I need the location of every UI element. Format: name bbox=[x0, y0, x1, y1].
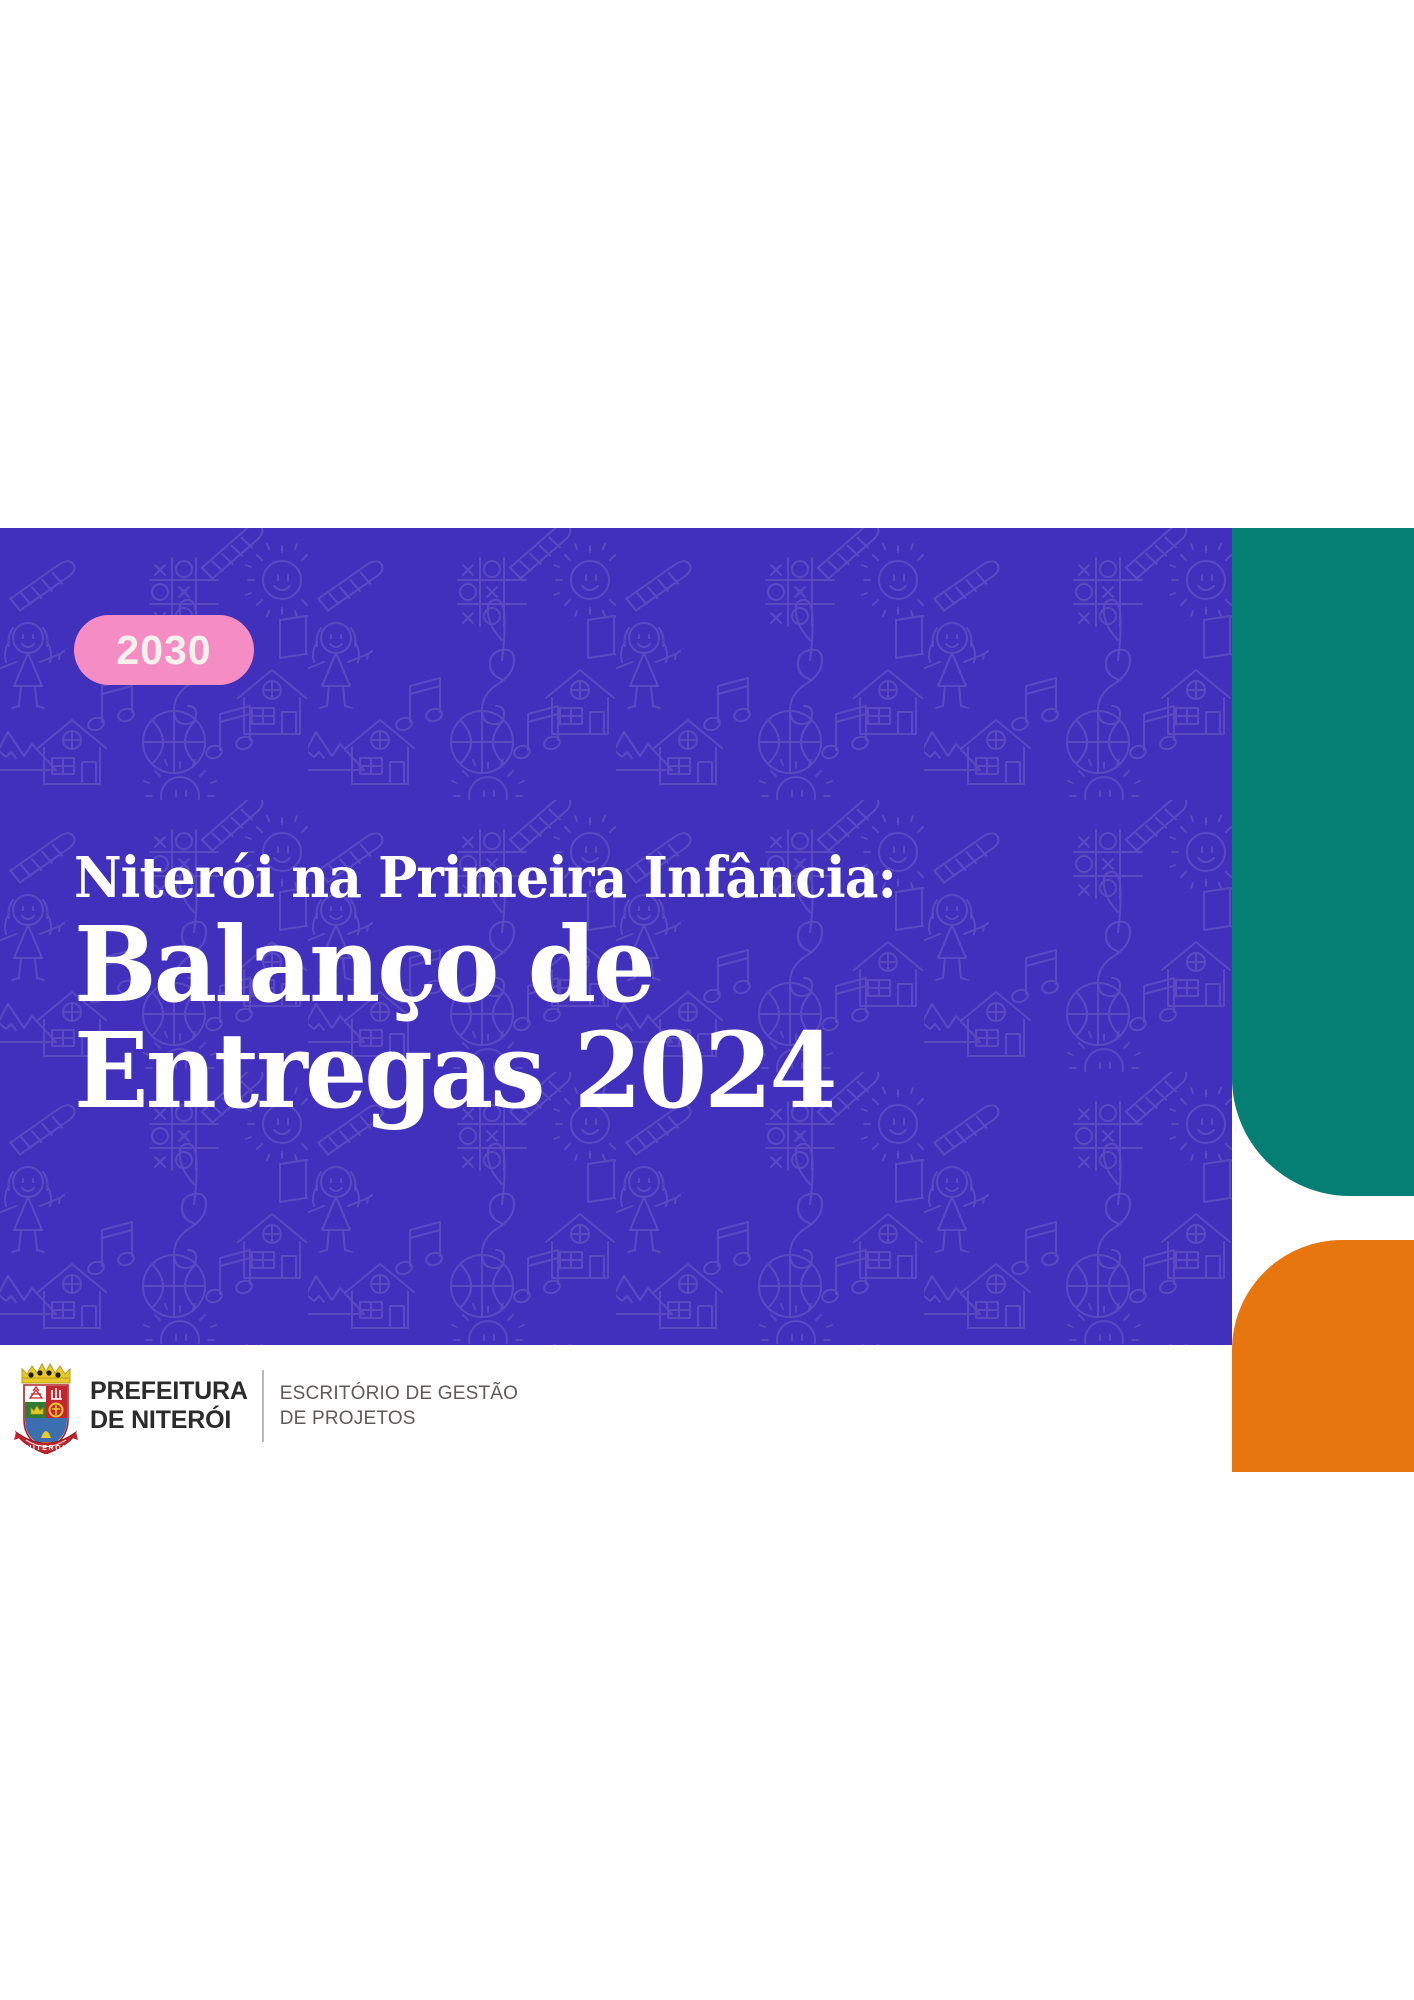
niteroi-coat-of-arms-icon: NITEROI bbox=[14, 1358, 78, 1454]
prefeitura-line-2: DE NITERÓI bbox=[90, 1406, 248, 1436]
orange-accent-block bbox=[1232, 1240, 1414, 1472]
escritorio-gestao-projetos-wordmark: ESCRITÓRIO DE GESTÃO DE PROJETOS bbox=[280, 1381, 518, 1431]
title-line-main-1: Balanço de bbox=[74, 912, 905, 1018]
egp-line-1: ESCRITÓRIO DE GESTÃO bbox=[280, 1381, 518, 1406]
prefeitura-line-1: PREFEITURA bbox=[90, 1377, 248, 1407]
page-title: Niterói na Primeira Infância: Balanço de… bbox=[74, 850, 958, 1124]
poster-page: 2030 Niterói na Primeira Infância: Balan… bbox=[0, 0, 1414, 2000]
year-badge-label: 2030 bbox=[116, 627, 211, 674]
svg-text:NITEROI: NITEROI bbox=[26, 1445, 66, 1452]
footer-logo-lockup: NITEROI PREFEITURA DE NITERÓI ESCRITÓRIO… bbox=[14, 1358, 518, 1454]
egp-line-2: DE PROJETOS bbox=[280, 1406, 518, 1431]
title-line-subtitle: Niterói na Primeira Infância: bbox=[74, 850, 896, 906]
teal-accent-block bbox=[1232, 528, 1414, 1196]
year-badge: 2030 bbox=[74, 615, 254, 685]
title-line-main-2: Entregas 2024 bbox=[74, 1018, 905, 1124]
prefeitura-wordmark: PREFEITURA DE NITERÓI bbox=[90, 1377, 248, 1436]
logo-divider bbox=[262, 1370, 264, 1442]
